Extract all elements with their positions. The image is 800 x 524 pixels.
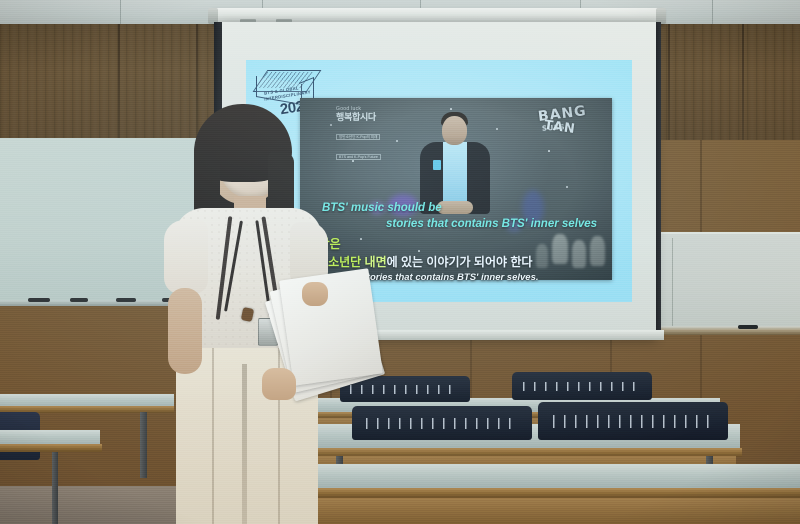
marker-tray-right <box>646 326 800 335</box>
subtitle-en-2: stories that contains BTS' inner selves <box>386 218 597 230</box>
lecture-room-photo: BTS & GLOBAL INTERDISCIPLINARY 2022 <box>0 0 800 524</box>
right-hand <box>302 282 328 306</box>
whiteboard-right <box>646 232 800 330</box>
chair-front-right <box>538 402 728 440</box>
chair-rear-right <box>512 372 652 400</box>
left-arm <box>168 288 202 374</box>
dry-erase-marker <box>738 325 758 329</box>
left-hand <box>262 368 296 400</box>
presenter <box>150 96 340 524</box>
chair-front-left <box>352 406 532 440</box>
subtitle-ko-2-c: 에 있는 이야기가 되어야 한다 <box>387 255 533 269</box>
desk-row-front <box>290 464 800 490</box>
